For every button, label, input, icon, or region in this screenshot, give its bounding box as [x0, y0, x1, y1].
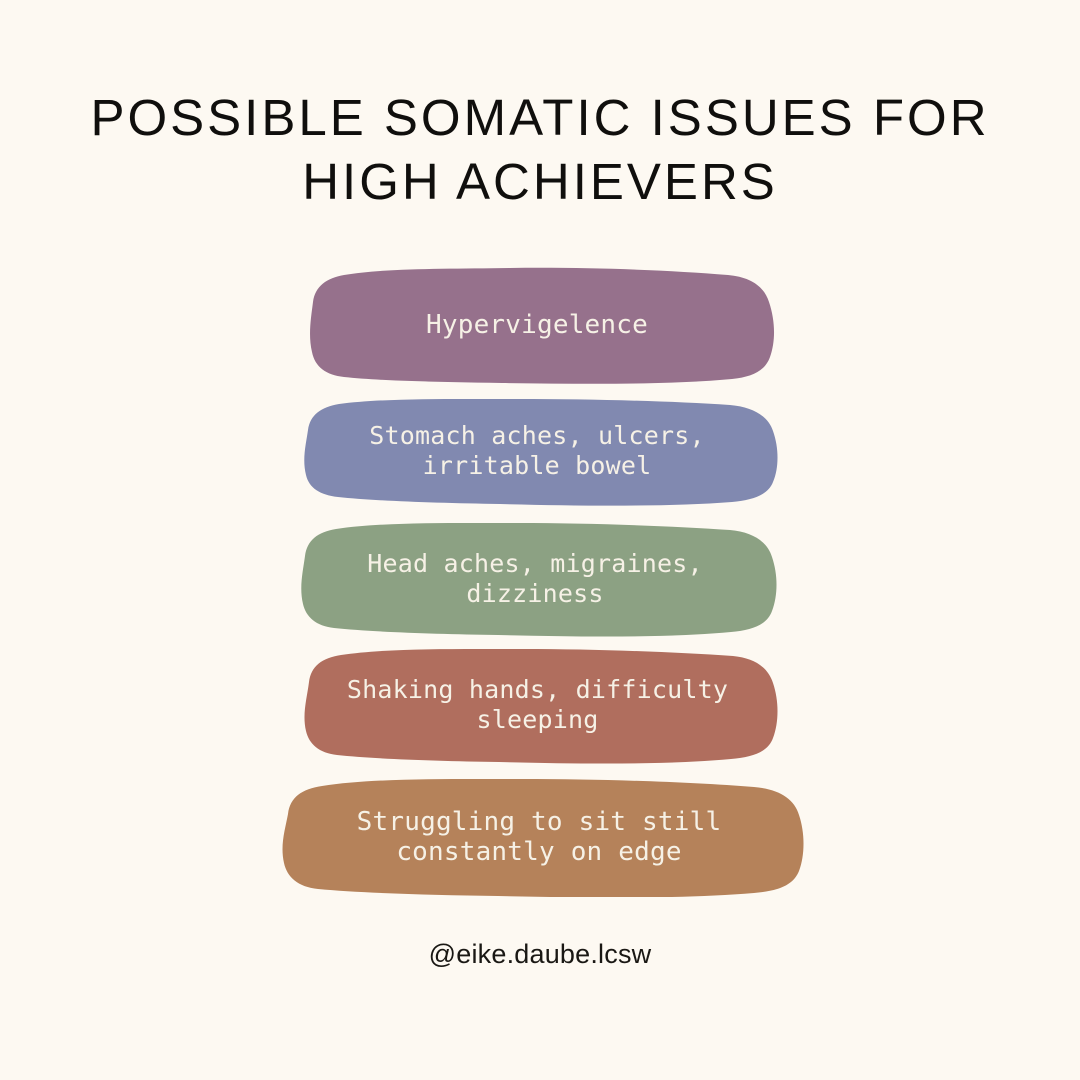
list-item: Struggling to sit still constantly on ed… [272, 776, 806, 897]
social-handle: @eike.daube.lcsw [0, 939, 1080, 970]
list-item-label: Shaking hands, difficulty sleeping [293, 675, 782, 735]
list-item: Stomach aches, ulcers, irritable bowel [292, 396, 782, 506]
page-title-line-2: HIGH ACHIEVERS [0, 150, 1080, 214]
list-item-label: Stomach aches, ulcers, irritable bowel [292, 421, 782, 481]
poster-canvas: POSSIBLE SOMATIC ISSUES FOR HIGH ACHIEVE… [0, 0, 1080, 1080]
page-title-line-1: POSSIBLE SOMATIC ISSUES FOR [0, 86, 1080, 150]
list-item: Head aches, migraines, dizziness [290, 520, 780, 637]
page-title: POSSIBLE SOMATIC ISSUES FOR HIGH ACHIEVE… [0, 86, 1080, 214]
list-item-label: Struggling to sit still constantly on ed… [272, 807, 806, 867]
list-item-label: Head aches, migraines, dizziness [290, 549, 780, 609]
list-item: Hypervigelence [296, 264, 778, 386]
somatic-issues-list: Hypervigelence Stomach aches, ulcers, ir… [0, 258, 1080, 918]
list-item-label: Hypervigelence [296, 310, 778, 340]
list-item: Shaking hands, difficulty sleeping [293, 646, 782, 764]
